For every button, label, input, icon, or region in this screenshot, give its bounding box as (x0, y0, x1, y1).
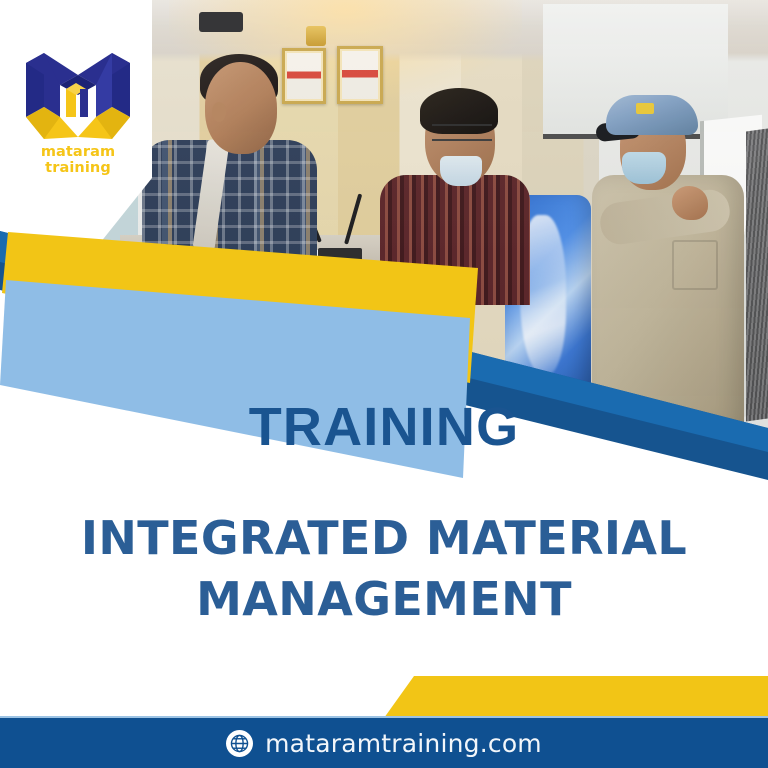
poster-canvas: mataram training TRAINING INTEGRATED MAT… (0, 0, 768, 768)
brand-logo-text: mataram training (14, 144, 142, 176)
brand-logo: mataram training (14, 45, 142, 170)
globe-icon (226, 730, 253, 757)
topic-line-1: INTEGRATED MATERIAL (64, 508, 704, 569)
page-title-eyebrow: TRAINING (0, 396, 768, 458)
footer-yellow-shape (384, 676, 768, 718)
m-cube-logo-icon (22, 45, 134, 141)
footer-bar: mataramtraining.com (0, 716, 768, 768)
topic-line-2: MANAGEMENT (64, 569, 704, 630)
website-url[interactable]: mataramtraining.com (265, 729, 542, 758)
page-title-topic: INTEGRATED MATERIAL MANAGEMENT (64, 508, 704, 629)
